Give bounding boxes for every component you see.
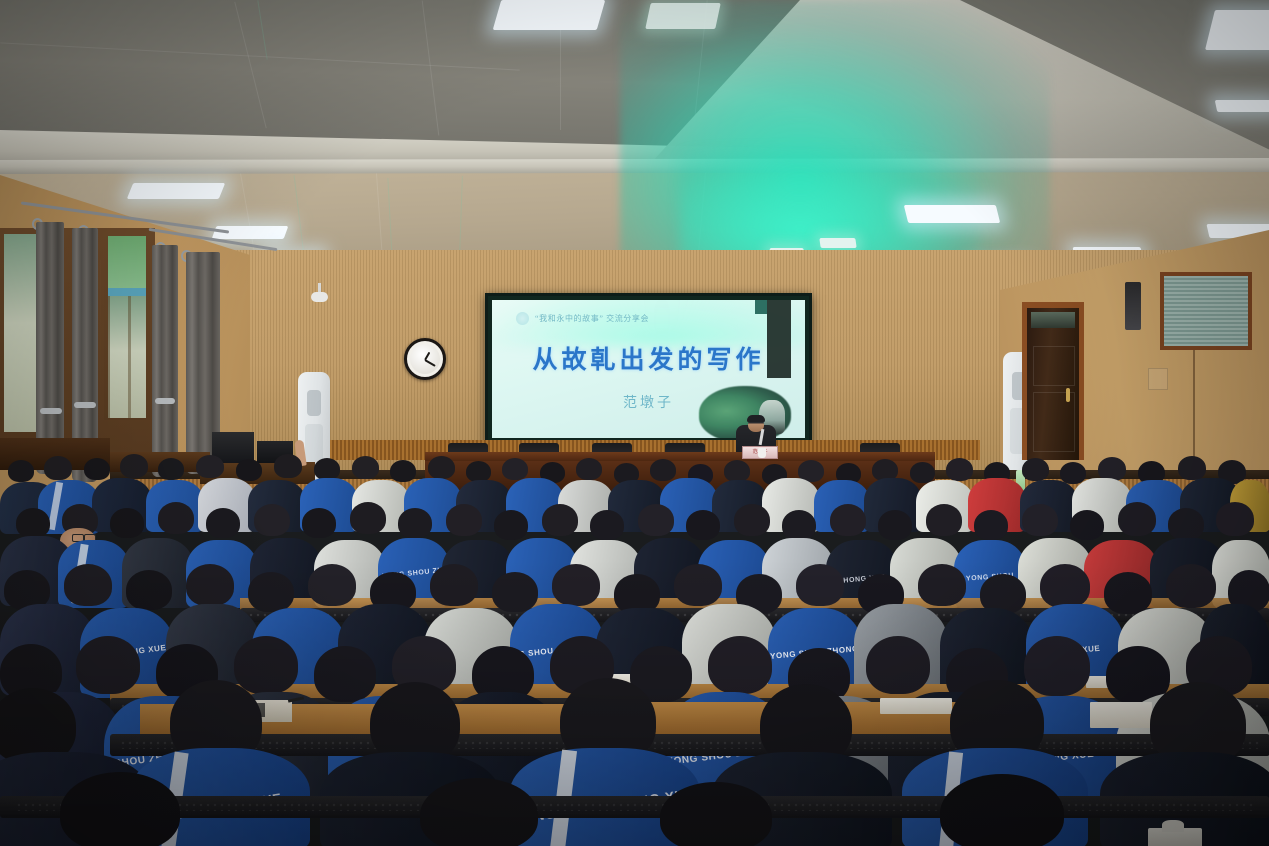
audience-head <box>650 459 676 481</box>
audience-head <box>1104 572 1152 614</box>
tissue <box>1162 820 1184 832</box>
window-curtain <box>36 222 64 474</box>
audience-head <box>126 570 172 610</box>
speaker-cap <box>747 415 765 422</box>
audience-head <box>638 504 674 536</box>
audience-head <box>946 458 973 481</box>
ceiling-lamp <box>127 183 225 199</box>
clock-minute-hand <box>425 359 436 366</box>
ceiling-lamp <box>1205 10 1269 50</box>
audience-head <box>428 456 455 479</box>
curtain-tieback <box>74 402 96 408</box>
ceiling-lamp <box>1215 100 1269 112</box>
audience-head <box>542 504 578 536</box>
audience-head <box>390 460 416 482</box>
door-handle[interactable] <box>1066 388 1070 402</box>
audience-head <box>686 510 720 540</box>
desk-rail-perforations <box>16 802 1256 811</box>
paper-stack <box>1090 702 1152 728</box>
audience-head <box>1060 462 1086 484</box>
audience-head <box>158 458 184 480</box>
curtain-tieback <box>155 398 175 404</box>
audience-head <box>552 564 600 606</box>
audience-head <box>186 564 234 606</box>
audience-head <box>576 458 602 480</box>
ceiling-lamp <box>904 205 1000 223</box>
slide-header-text: “我和永中的故事” 交流分享会 <box>535 313 649 324</box>
left-window-glass <box>108 296 146 418</box>
wall-clock <box>404 338 446 380</box>
audience-head <box>196 455 224 478</box>
audience-head <box>1024 636 1090 696</box>
audience-head <box>724 460 750 482</box>
audience-head <box>274 454 302 478</box>
lecture-hall-photo: “我和永中的故事” 交流分享会 从故乹出发的写作 范墩子 范墩子 <box>0 0 1269 846</box>
right-window-blind <box>1164 276 1248 346</box>
audience-head <box>866 636 930 694</box>
desk-rail-perforations <box>120 740 1260 749</box>
audience-head <box>734 504 770 536</box>
audience-head <box>466 461 491 482</box>
audience-head <box>974 510 1008 540</box>
door-panel <box>1033 346 1075 386</box>
audience-head <box>350 502 386 534</box>
curtain-tieback <box>40 408 62 414</box>
audience-head <box>254 504 290 536</box>
audience-head <box>16 508 50 538</box>
audience-head <box>708 636 772 694</box>
ceiling-lamp <box>645 3 721 29</box>
audience-head <box>8 460 34 482</box>
audience-head <box>120 454 148 478</box>
audience: YONG SHOU ZHONG ZHONG XUE YONG SHOU <box>0 452 1269 846</box>
audience-head <box>398 508 432 538</box>
audience-head <box>110 508 144 538</box>
audience-head <box>782 510 816 540</box>
ceiling-lamp <box>819 238 856 248</box>
left-window-mullion <box>108 296 110 418</box>
left-window-blind-edge <box>108 288 146 296</box>
audience-head <box>236 459 262 481</box>
audience-head <box>352 456 379 479</box>
audience-head <box>590 510 624 540</box>
audience-head <box>1166 564 1216 608</box>
audience-head <box>1022 504 1058 536</box>
school-emblem-icon <box>516 312 529 325</box>
audience-head <box>494 510 528 540</box>
audience-head <box>314 458 340 480</box>
slide-title: 从故乹出发的写作 <box>492 340 805 376</box>
audience-head <box>878 510 912 540</box>
audience-head <box>64 564 112 606</box>
audience-head <box>940 774 1064 846</box>
left-window-blind <box>108 236 146 288</box>
audience-head <box>420 778 538 846</box>
audience-head <box>1070 510 1104 540</box>
wall-cable <box>1193 350 1195 460</box>
audience-head <box>1022 458 1049 481</box>
audience-head <box>60 772 180 846</box>
audience-head <box>302 508 336 538</box>
audience-head <box>1168 508 1204 540</box>
audience-head <box>926 504 962 536</box>
audience-head <box>1178 456 1206 480</box>
wall-speaker <box>1125 282 1141 330</box>
audience-head <box>76 636 140 694</box>
audience-head <box>308 564 356 606</box>
rear-door[interactable] <box>1027 308 1079 460</box>
audience-head <box>796 564 844 606</box>
clock-face <box>410 344 440 374</box>
audience-head <box>1118 502 1156 536</box>
audience-head <box>502 458 528 480</box>
audience-head <box>1040 564 1090 608</box>
window-curtain <box>152 245 178 477</box>
audience-head <box>44 456 72 480</box>
audience-head <box>84 458 110 480</box>
audience-head <box>158 502 194 534</box>
audience-head <box>446 504 482 536</box>
audience-head <box>248 572 294 612</box>
wall-access-panel <box>1148 368 1168 390</box>
audience-head <box>430 564 478 606</box>
left-window-glass <box>4 234 40 432</box>
audience-head <box>1216 502 1254 536</box>
audience-head <box>492 572 538 612</box>
audience-head <box>206 508 240 538</box>
audience-head <box>674 564 722 606</box>
slide-header: “我和永中的故事” 交流分享会 <box>516 310 795 326</box>
audience-head <box>660 782 772 846</box>
ceiling-lamp <box>493 0 606 30</box>
audience-head <box>234 636 298 694</box>
door-transom-glass <box>1031 312 1075 328</box>
audience-head <box>910 462 935 483</box>
audience-head <box>918 564 966 606</box>
paper-stack <box>880 698 952 714</box>
ac-vent <box>307 390 321 416</box>
left-window-mullion <box>128 296 131 418</box>
audience-head <box>830 504 866 536</box>
security-camera-icon <box>311 292 328 302</box>
